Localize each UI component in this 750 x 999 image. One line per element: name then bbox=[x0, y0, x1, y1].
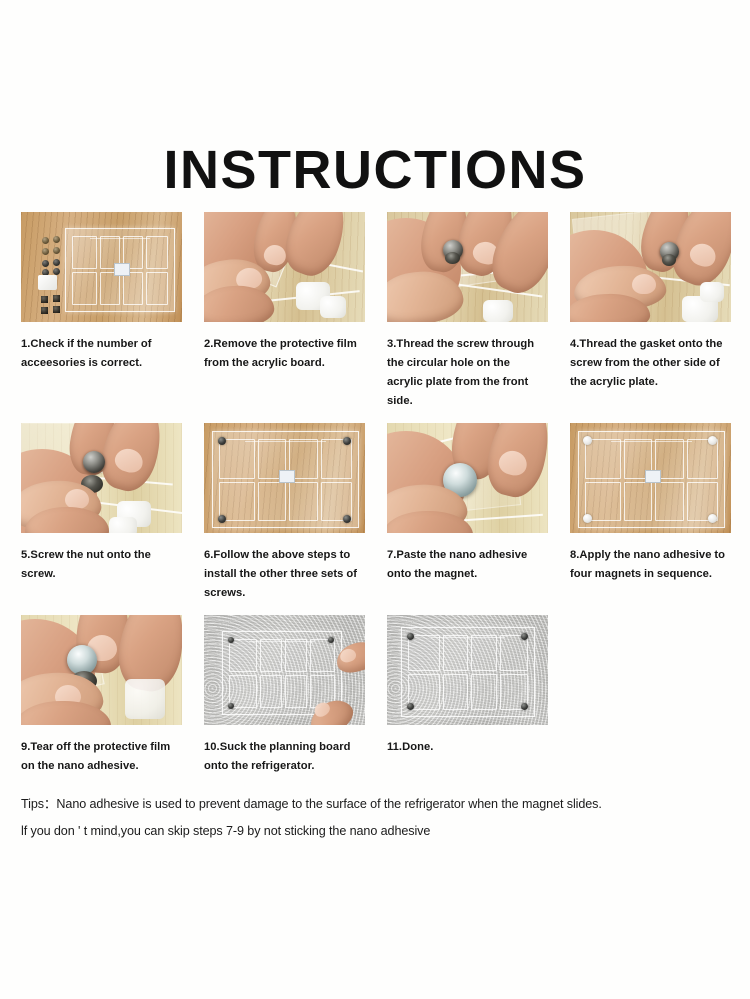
page-title: INSTRUCTIONS bbox=[0, 142, 750, 198]
tips-block: Tips：Nano adhesive is used to prevent da… bbox=[21, 791, 737, 845]
step-caption-9: 9.Tear off the protective film on the na… bbox=[21, 738, 182, 776]
step-item-5: 5.Screw the nut onto the screw. bbox=[21, 423, 182, 584]
step-item-placeholder bbox=[570, 615, 731, 725]
step-photo-4 bbox=[570, 212, 731, 322]
tips-line-2: lf you don ' t mind,you can skip steps 7… bbox=[21, 818, 737, 845]
step-caption-3: 3.Thread the screw through the circular … bbox=[387, 335, 548, 411]
step-caption-2: 2.Remove the protective film from the ac… bbox=[204, 335, 365, 373]
step-caption-5: 5.Screw the nut onto the screw. bbox=[21, 546, 182, 584]
step-photo-2 bbox=[204, 212, 365, 322]
step-photo-11 bbox=[387, 615, 548, 725]
step-item-3: 3.Thread the screw through the circular … bbox=[387, 212, 548, 411]
step-item-9: 9.Tear off the protective film on the na… bbox=[21, 615, 182, 776]
step-caption-6: 6.Follow the above steps to install the … bbox=[204, 546, 365, 603]
step-photo-3 bbox=[387, 212, 548, 322]
step-photo-10 bbox=[204, 615, 365, 725]
step-row-2: 5.Screw the nut onto the screw. bbox=[21, 423, 729, 603]
step-caption-8: 8.Apply the nano adhesive to four magnet… bbox=[570, 546, 731, 584]
empty-photo-slot bbox=[570, 615, 731, 725]
step-caption-4: 4.Thread the gasket onto the screw from … bbox=[570, 335, 731, 392]
step-item-2: 2.Remove the protective film from the ac… bbox=[204, 212, 365, 373]
step-item-6: 6.Follow the above steps to install the … bbox=[204, 423, 365, 603]
tips-line-1: Tips：Nano adhesive is used to prevent da… bbox=[21, 791, 737, 818]
step-row-3: 9.Tear off the protective film on the na… bbox=[21, 615, 729, 776]
step-item-8: 8.Apply the nano adhesive to four magnet… bbox=[570, 423, 731, 584]
step-photo-8 bbox=[570, 423, 731, 533]
step-item-1: 1.Check if the number of acceesories is … bbox=[21, 212, 182, 373]
step-caption-1: 1.Check if the number of acceesories is … bbox=[21, 335, 182, 373]
step-item-10: 10.Suck the planning board onto the refr… bbox=[204, 615, 365, 776]
step-item-7: 7.Paste the nano adhesive onto the magne… bbox=[387, 423, 548, 584]
step-photo-7 bbox=[387, 423, 548, 533]
step-photo-6 bbox=[204, 423, 365, 533]
step-photo-5 bbox=[21, 423, 182, 533]
step-row-1: 1.Check if the number of acceesories is … bbox=[21, 212, 729, 411]
step-caption-7: 7.Paste the nano adhesive onto the magne… bbox=[387, 546, 548, 584]
step-photo-9 bbox=[21, 615, 182, 725]
step-photo-1 bbox=[21, 212, 182, 322]
step-item-11: 11.Done. bbox=[387, 615, 548, 757]
step-caption-10: 10.Suck the planning board onto the refr… bbox=[204, 738, 365, 776]
step-caption-11: 11.Done. bbox=[387, 738, 548, 757]
step-item-4: 4.Thread the gasket onto the screw from … bbox=[570, 212, 731, 392]
steps-grid: 1.Check if the number of acceesories is … bbox=[21, 212, 729, 788]
